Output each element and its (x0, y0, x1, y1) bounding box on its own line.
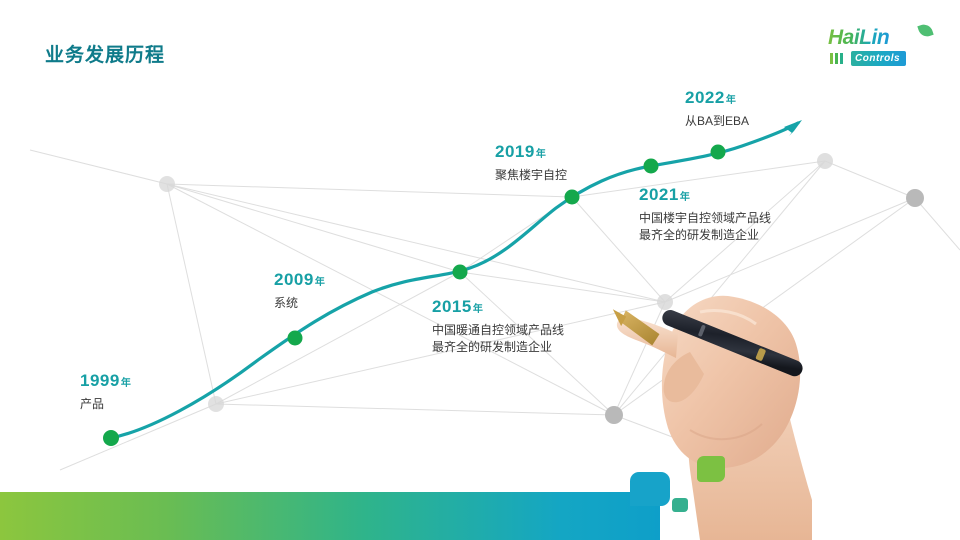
logo-wordmark: HaiLin (828, 26, 889, 50)
milestone-dot-2009 (288, 331, 303, 346)
milestone-year: 1999 (80, 371, 120, 390)
milestone-description: 中国暖通自控领域产品线 最齐全的研发制造企业 (432, 322, 564, 356)
milestone-description: 系统 (274, 295, 325, 312)
milestone-2019: 2019年 聚焦楼宇自控 (495, 142, 567, 184)
milestone-dot-2019 (565, 190, 580, 205)
milestone-year-suffix: 年 (726, 95, 736, 106)
milestone-description: 中国楼宇自控领域产品线 最齐全的研发制造企业 (639, 210, 771, 244)
slide-canvas: 业务发展历程 HaiLin Controls 1999年 产品 2009年 系统… (0, 0, 960, 540)
milestone-year-suffix: 年 (473, 304, 483, 315)
milestone-dot-2022 (711, 145, 726, 160)
milestone-2022: 2022年 从BA到EBA (685, 88, 749, 130)
milestone-2021: 2021年 中国楼宇自控领域产品线 最齐全的研发制造企业 (639, 185, 771, 244)
milestone-description: 聚焦楼宇自控 (495, 167, 567, 184)
milestone-description-line: 中国暖通自控领域产品线 (432, 322, 564, 339)
logo-subtitle: Controls (851, 51, 906, 66)
milestone-2015: 2015年 中国暖通自控领域产品线 最齐全的研发制造企业 (432, 297, 564, 356)
milestone-year-suffix: 年 (680, 192, 690, 203)
milestone-year-suffix: 年 (536, 149, 546, 160)
growth-curve (0, 0, 960, 540)
milestone-description-line: 从BA到EBA (685, 113, 749, 130)
milestone-year-suffix: 年 (121, 378, 131, 389)
milestone-description-line: 聚焦楼宇自控 (495, 167, 567, 184)
milestone-year: 2009 (274, 270, 314, 289)
milestone-description-line: 中国楼宇自控领域产品线 (639, 210, 771, 227)
milestone-year: 2015 (432, 297, 472, 316)
milestone-description-line: 产品 (80, 396, 131, 413)
footer-accent-square-teal (672, 498, 688, 512)
milestone-2009: 2009年 系统 (274, 270, 325, 312)
logo-bars-icon (830, 53, 843, 64)
milestone-description: 从BA到EBA (685, 113, 749, 130)
milestone-description: 产品 (80, 396, 131, 413)
brand-logo: HaiLin Controls (820, 26, 938, 70)
page-title: 业务发展历程 (45, 40, 165, 67)
milestone-description-line: 最齐全的研发制造企业 (639, 227, 771, 244)
logo-subtitle-wrap: Controls (830, 51, 936, 66)
milestone-year: 2021 (639, 185, 679, 204)
footer-gradient-bar (0, 492, 660, 540)
footer-accent-square-blue (630, 472, 670, 506)
milestone-dot-2021 (644, 159, 659, 174)
milestone-year: 2019 (495, 142, 535, 161)
milestone-description-line: 系统 (274, 295, 325, 312)
milestone-year-suffix: 年 (315, 277, 325, 288)
milestone-year: 2022 (685, 88, 725, 107)
milestone-dot-2015 (453, 265, 468, 280)
footer-accent-square-green (697, 456, 725, 482)
milestone-1999: 1999年 产品 (80, 371, 131, 413)
milestone-dot-1999 (103, 430, 119, 446)
milestone-description-line: 最齐全的研发制造企业 (432, 339, 564, 356)
